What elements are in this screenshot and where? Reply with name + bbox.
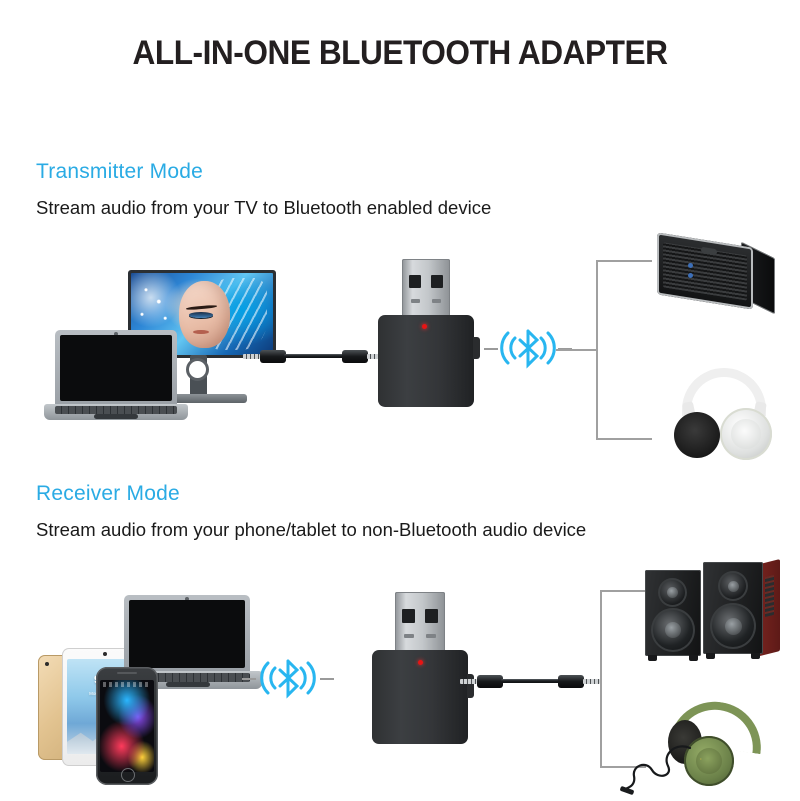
cable-plug-barrel-left-receiver: [477, 675, 503, 688]
speaker-right-tweeter: [718, 571, 748, 601]
usb-slot-left-receiver: [404, 634, 414, 638]
speaker-right-foot-b: [751, 653, 760, 659]
speaker-left-foot-b: [689, 655, 698, 661]
laptop-keyboard: [55, 406, 177, 414]
cable-plug-barrel-left: [260, 350, 286, 363]
speaker-indicator-2: [688, 273, 693, 278]
usb-a-connector-receiver: [395, 592, 445, 656]
green-headphones-logo: ·: [700, 757, 702, 763]
laptop-lid: [55, 330, 177, 406]
cable-plug-barrel-right-receiver: [558, 675, 584, 688]
laptop-trackpad: [94, 414, 138, 419]
speaker-right-woofer-dome: [725, 618, 742, 635]
bluetooth-icon-transmitter: [496, 322, 560, 374]
speaker-indicator-1: [688, 263, 693, 268]
bracket-arm-top: [596, 260, 652, 262]
bookshelf-speaker-left: [645, 570, 701, 656]
transmitter-mode-description: Stream audio from your TV to Bluetooth e…: [36, 195, 716, 220]
speaker-right-foot-a: [706, 653, 715, 659]
laptop-screen: [60, 335, 172, 401]
bluetooth-speaker: [657, 240, 753, 302]
usb-contact-pad-left: [409, 275, 421, 288]
signal-line-left: [484, 348, 498, 350]
bracket-arm-top-receiver: [600, 590, 646, 592]
adapter-mode-button[interactable]: [473, 337, 480, 359]
bracket-spine-receiver: [600, 590, 602, 768]
bluetooth-glyph: [496, 322, 560, 374]
bracket-arm-bottom: [596, 438, 652, 440]
speaker-left-woofer-dome: [665, 622, 681, 638]
phone-earpiece: [117, 672, 137, 674]
speaker-right-vent: [765, 575, 774, 617]
usb-slot-left: [411, 299, 420, 303]
phone-status-bar: [103, 682, 151, 687]
cable-wire: [284, 354, 344, 358]
status-led-indicator-receiver: [418, 660, 423, 665]
smartphone: [96, 667, 158, 785]
speaker-right-woofer: [710, 603, 756, 649]
monitor-screen-stars: [134, 280, 174, 329]
bluetooth-icon-receiver: [256, 652, 320, 704]
headphones-earpad-left: [674, 412, 720, 458]
laptop-screen-receiver: [129, 600, 245, 668]
cable-path-icon: [620, 740, 694, 796]
usb-contact-pad-right: [431, 275, 443, 288]
usb-contact-pad-right-receiver: [425, 609, 438, 623]
receiver-mode-heading: Receiver Mode: [36, 482, 180, 506]
bookshelf-speaker-right: [703, 562, 763, 654]
headphones-earcup-inner: [731, 419, 760, 448]
usb-a-connector: [402, 259, 450, 321]
adapter-body-receiver: [372, 650, 468, 744]
usb-bluetooth-adapter-transmitter: [378, 259, 474, 407]
signal-line-left-receiver: [242, 678, 256, 680]
bookshelf-speakers: [645, 556, 790, 668]
usb-bluetooth-adapter-receiver: [372, 592, 468, 744]
laptop-lid-receiver: [124, 595, 250, 673]
speaker-right-tweeter-dome: [728, 581, 739, 592]
laptop-trackpad-receiver: [166, 682, 210, 687]
white-headphones: [668, 368, 780, 460]
cable-plug-barrel-right: [342, 350, 368, 363]
headphones-earcup-right: [720, 408, 772, 460]
status-led-indicator: [422, 324, 427, 329]
phone-screen: [100, 680, 154, 772]
speaker-left-tweeter: [658, 578, 687, 607]
phone-home-button[interactable]: [121, 768, 135, 782]
signal-line-right-receiver: [320, 678, 334, 680]
usb-contact-pad-left-receiver: [402, 609, 415, 623]
page-title: ALL-IN-ONE BLUETOOTH ADAPTER: [28, 34, 772, 73]
usb-slot-right-receiver: [426, 634, 436, 638]
cable-plug-tip-left: [243, 354, 260, 359]
transmitter-output-bracket: [596, 260, 652, 440]
tablet-front-camera-icon: [103, 652, 107, 656]
audio-cable-transmitter: [243, 345, 385, 367]
infographic-page: ALL-IN-ONE BLUETOOTH ADAPTER Transmitter…: [0, 0, 800, 800]
speaker-left-tweeter-dome: [667, 587, 678, 598]
cable-plug-tip-right-receiver: [583, 679, 600, 684]
bracket-stem-transmitter: [556, 349, 598, 351]
audio-cable-receiver: [460, 670, 600, 692]
monitor-stand-hole: [186, 358, 209, 381]
adapter-body: [378, 315, 474, 407]
cable-plug-tip-left-receiver: [460, 679, 477, 684]
receiver-mode-description: Stream audio from your phone/tablet to n…: [36, 517, 676, 542]
tablet-camera-icon: [45, 662, 49, 666]
transmitter-mode-heading: Transmitter Mode: [36, 160, 203, 184]
speaker-left-woofer: [651, 608, 695, 652]
usb-slot-right: [432, 299, 441, 303]
green-headphones-cable: [620, 740, 694, 796]
green-headphones: ·: [620, 700, 795, 796]
speaker-left-foot-a: [648, 655, 657, 661]
bluetooth-glyph-receiver: [256, 652, 320, 704]
cable-wire-receiver: [501, 679, 560, 683]
